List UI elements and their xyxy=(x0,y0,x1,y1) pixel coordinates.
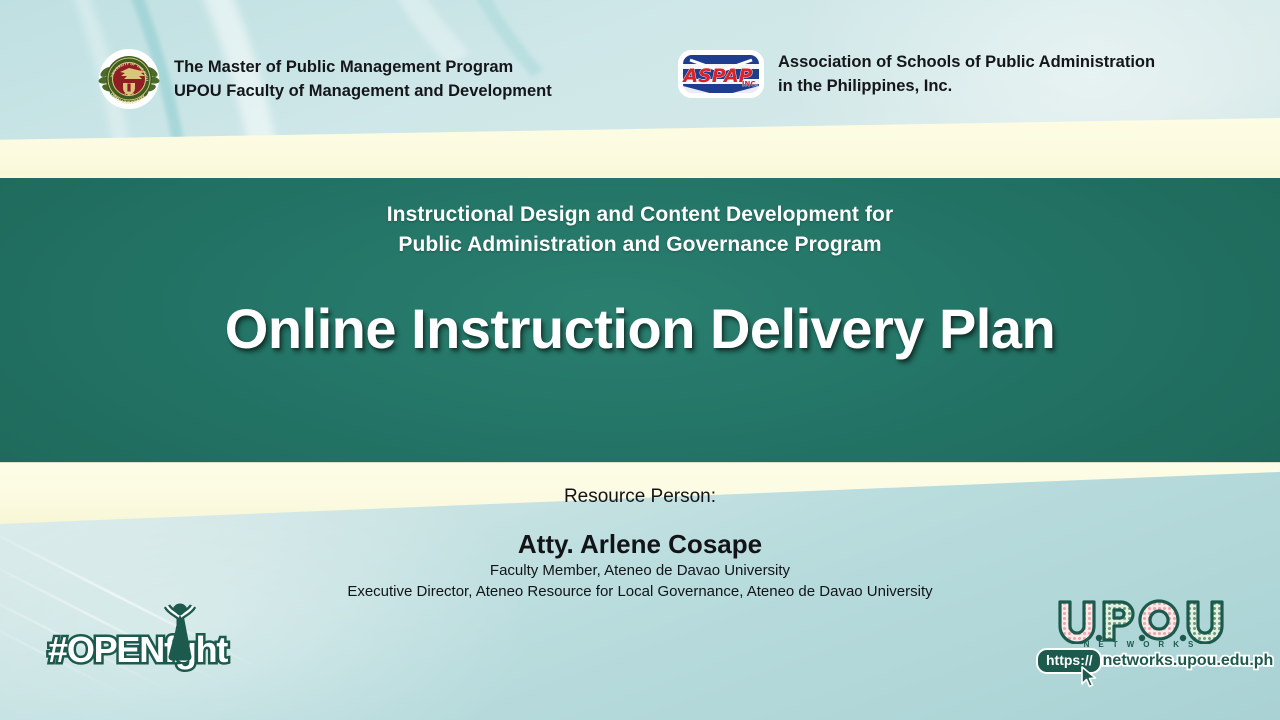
header-upou-line1: The Master of Public Management Program xyxy=(174,55,552,79)
up-seal-icon: 1908 OF THE UNIVERSITY OF THE PHILIPPINE… xyxy=(98,48,160,110)
url-host: networks.upou.edu.ph xyxy=(1098,651,1274,671)
presentation-slide: 1908 OF THE UNIVERSITY OF THE PHILIPPINE… xyxy=(0,0,1280,720)
header-org-upou-text: The Master of Public Management Program … xyxy=(174,55,552,103)
header-aspap-line1: Association of Schools of Public Adminis… xyxy=(778,50,1155,74)
cursor-arrow-icon xyxy=(1080,666,1098,688)
resource-person-name: Atty. Arlene Cosape xyxy=(0,528,1280,560)
upou-url[interactable]: https:// networks.upou.edu.ph xyxy=(1036,648,1273,674)
oblation-statue-icon xyxy=(160,601,200,665)
banner-subtitle-line2: Public Administration and Governance Pro… xyxy=(0,230,1280,260)
openfight-wordmark: #OPENfght xyxy=(48,629,227,671)
resource-person-label: Resource Person: xyxy=(0,484,1280,510)
header-org-aspap: ASPAP INC. Association of Schools of Pub… xyxy=(678,50,1155,98)
header-aspap-line2: in the Philippines, Inc. xyxy=(778,74,1155,98)
title-banner: Instructional Design and Content Develop… xyxy=(0,178,1280,462)
upou-letters-icon xyxy=(1052,596,1232,644)
svg-text:1908: 1908 xyxy=(124,93,135,97)
svg-text:OF THE: OF THE xyxy=(123,70,134,74)
header-org-upou: 1908 OF THE UNIVERSITY OF THE PHILIPPINE… xyxy=(98,48,552,110)
header-upou-line2: UPOU Faculty of Management and Developme… xyxy=(174,79,552,103)
header-org-aspap-text: Association of Schools of Public Adminis… xyxy=(778,50,1155,98)
aspap-logo-icon: ASPAP INC. xyxy=(678,50,764,98)
banner-subtitle: Instructional Design and Content Develop… xyxy=(0,200,1280,260)
upou-networks-logo: NETWORKS https:// networks.upou.edu.ph xyxy=(1036,596,1246,680)
openfight-text-before: #OPENf xyxy=(48,629,175,670)
resource-person-block: Resource Person: Atty. Arlene Cosape Fac… xyxy=(0,484,1280,602)
svg-text:INC.: INC. xyxy=(742,80,758,88)
banner-subtitle-line1: Instructional Design and Content Develop… xyxy=(0,200,1280,230)
page-title: Online Instruction Delivery Plan xyxy=(0,296,1280,361)
openfight-logo: #OPENfght xyxy=(48,624,227,676)
resource-person-affiliation-1: Faculty Member, Ateneo de Davao Universi… xyxy=(0,560,1280,581)
